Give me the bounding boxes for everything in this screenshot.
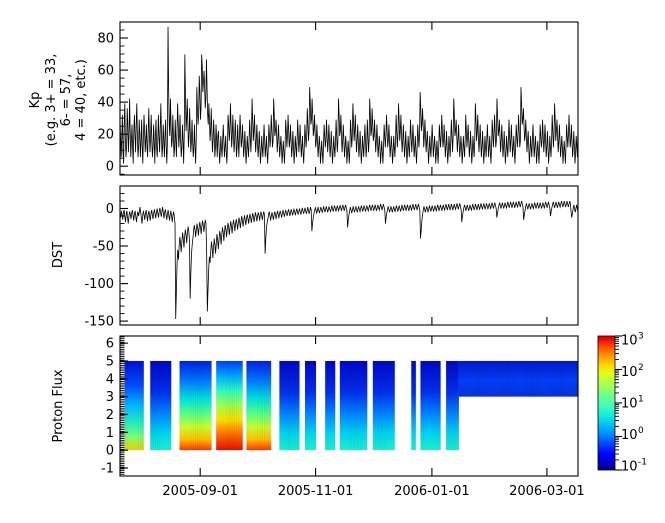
dst-ytick-m150: -150 [84,315,114,330]
spectrogram-striation [505,361,506,397]
spectrogram-striation [451,361,452,450]
spectrogram-striation [238,361,239,450]
spectrogram-striation [312,361,313,450]
colorbar-exp-1e3: 3 [638,332,644,342]
spectrogram-striation [225,361,226,450]
colorbar-exp-1e2: 2 [638,363,644,373]
proton-flux-ytick-0: 0 [106,444,114,459]
spectrogram-striation [351,361,352,450]
spectrogram-striation [188,361,189,450]
kp-ytick-80: 80 [97,32,114,47]
spectrogram-striation [479,361,480,397]
spectrogram-striation [362,361,363,450]
spectrogram-striation [532,361,533,397]
spectrogram-striation [186,361,187,450]
spectrogram-striation [554,361,555,397]
spectrogram-striation [195,361,196,450]
spectrogram-striation [499,361,500,397]
spectrogram-striation [346,361,347,450]
spectrogram-striation [284,361,285,450]
spectrogram-striation [355,361,356,450]
spectrogram-striation [446,361,447,450]
spectrogram-striation [271,361,272,450]
spectrogram-striation [332,361,333,450]
proton-flux-colorbar: 10 3 10 2 10 1 10 0 10 -1 [598,332,647,475]
spectrogram-striation [344,361,345,450]
spectrogram-striation [129,361,130,450]
spectrogram-striation [485,361,486,397]
spectrogram-striation [547,361,548,397]
colorbar-gradient [598,336,615,470]
spectrogram-striation [468,361,469,397]
dst-panel: 0 -50 -100 -150 DST [51,186,578,330]
spectrogram-striation [140,361,141,450]
spectrogram-striation [488,361,489,397]
spectrogram-striation [234,361,235,450]
spectrogram-striation [474,361,475,397]
proton-flux-panel: -10123456 Proton Flux 2005-09-01 2005-11… [51,336,585,499]
colorbar-exp-1e0: 0 [638,426,644,436]
spectrogram-striation [431,361,432,450]
spectrogram-striation [236,361,237,450]
spectrogram-striation [388,361,389,450]
spectrogram-striation [268,361,269,450]
spectrogram-striation [136,361,137,450]
spectrogram-striation [490,361,491,397]
spectrogram-striation [249,361,250,450]
kp-axis-title-line1: Kp [28,92,43,109]
spectrogram-striation [525,361,526,397]
colorbar-tick-labels: 10 3 10 2 10 1 10 0 10 -1 [621,332,647,475]
spectrogram-striation [440,361,441,450]
kp-ytick-40: 40 [97,96,114,111]
proton-flux-ytick-6: 6 [106,337,114,352]
spectrogram-striation [202,361,203,450]
spectrogram-striation [501,361,502,397]
spectrogram-striation [305,361,306,450]
colorbar-exp-1em1: -1 [638,458,647,468]
colorbar-label-1em1: 10 [621,460,638,475]
spectrogram-striation [232,361,233,450]
spectrogram-striation [197,361,198,450]
spectrogram-segment [246,361,271,450]
xtick-label-4: 2006-03-01 [509,484,585,499]
spectrogram-striation [386,361,387,450]
dst-ytick-m50: -50 [93,240,114,255]
spectrogram-striation [569,361,570,397]
kp-axis-title-line2: (e.g. 3+ = 33, [44,54,59,147]
spectrogram-striation [251,361,252,450]
spectrogram-striation [540,361,541,397]
kp-panel: 0 20 40 60 80 Kp (e.g. 3+ = 33, 6- = 57,… [28,22,578,175]
spectrogram-striation [150,361,151,450]
spectrogram-striation [455,361,456,450]
spectrogram-striation [492,361,493,397]
dst-axis-title: DST [51,242,66,268]
spectrogram-striation [262,361,263,450]
spectrogram-striation [218,361,219,450]
x-axis-tick-labels: 2005-09-01 2005-11-01 2006-01-01 2006-03… [162,484,584,499]
dst-ytick-0: 0 [106,202,114,217]
spectrogram-striation [427,361,428,450]
spectrogram-striation [507,361,508,397]
spectrogram-striation [375,361,376,450]
spectrogram-striation [565,361,566,397]
spectrogram-striation [503,361,504,397]
spectrogram-striation [286,361,287,450]
colorbar-label-1e2: 10 [621,365,638,380]
spectrogram-striation [340,361,341,450]
spectrogram-striation [349,361,350,450]
spectrogram-striation [538,361,539,397]
spectrogram-striation [461,361,462,397]
spectrogram-striation [353,361,354,450]
spectrogram-striation [481,361,482,397]
spectrogram-striation [325,361,326,450]
spectrogram-striation [393,361,394,450]
spectrogram-striation [416,361,417,450]
spectrogram-striation [420,361,421,450]
kp-axis-title-line3: 6- = 57, [59,74,74,127]
spectrogram-segment [446,361,459,450]
spectrogram-striation [142,361,143,450]
spectrogram-striation [496,361,497,397]
spectrogram-striation [459,361,460,397]
spectrogram-striation [523,361,524,397]
spectrogram-striation [512,361,513,397]
spectrogram-striation [545,361,546,397]
spectrogram-striation [466,361,467,397]
spectrogram-striation [180,361,181,450]
spectrogram-striation [295,361,296,450]
spectrogram-striation [379,361,380,450]
spectrogram-striation [288,361,289,450]
dst-series-line [120,201,578,319]
dst-y-axis: 0 -50 -100 -150 [84,194,128,330]
spectrogram-striation [163,361,164,450]
spectrogram-striation [314,361,315,450]
spectrogram-striation [510,361,511,397]
dst-ytick-m100: -100 [84,277,114,292]
proton-flux-ytick-1: 1 [106,426,114,441]
spectrogram-striation [567,361,568,397]
spectrogram-striation [299,361,300,450]
kp-ytick-60: 60 [97,64,114,79]
spectrogram-striation [255,361,256,450]
proton-flux-ytick--1: -1 [101,461,114,476]
spectrogram-striation [472,361,473,397]
spectrogram-striation [227,361,228,450]
kp-ytick-20: 20 [97,128,114,143]
spectrogram-striation [293,361,294,450]
spectrogram-striation [170,361,171,450]
spectrogram-striation [411,361,412,450]
spectrogram-striation [184,361,185,450]
spectrogram-striation [364,361,365,450]
spectrogram-striation [571,361,572,397]
spectrogram-striation [243,361,244,450]
spectrogram-striation [366,361,367,450]
spectrogram-striation [260,361,261,450]
spectrogram-striation [191,361,192,450]
spectrogram-striation [334,361,335,450]
spectrogram-striation [373,361,374,450]
kp-ytick-0: 0 [106,160,114,175]
colorbar-label-1e1: 10 [621,397,638,412]
spectrogram-striation [257,361,258,450]
spectrogram-striation [360,361,361,450]
spectrogram-striation [562,361,563,397]
spectrogram-striation [556,361,557,397]
spectrogram-striation [514,361,515,397]
spectrogram-striation [282,361,283,450]
spectrogram-striation [210,361,211,450]
spectrogram-striation [229,361,230,450]
spectrogram-striation [382,361,383,450]
proton-flux-ytick-5: 5 [106,354,114,369]
spectrogram-striation [125,361,126,450]
proton-flux-ytick-3: 3 [106,390,114,405]
spectrogram-striation [494,361,495,397]
kp-series-line [120,27,578,164]
spectrogram-striation [309,361,310,450]
proton-flux-ytick-2: 2 [106,408,114,423]
figure-root: 0 20 40 60 80 Kp (e.g. 3+ = 33, 6- = 57,… [0,0,665,523]
xtick-label-1: 2005-09-01 [162,484,238,499]
spectrogram-striation [390,361,391,450]
spectrogram-striation [558,361,559,397]
xtick-label-3: 2006-01-01 [394,484,470,499]
spectrogram-striation [290,361,291,450]
spectrogram-striation [297,361,298,450]
spectrogram-striation [470,361,471,397]
spectrogram-striation [423,361,424,450]
spectrogram-striation [434,361,435,450]
spectrogram-striation [216,361,217,450]
spectrogram-striation [279,361,280,450]
proton-flux-ytick-4: 4 [106,372,114,387]
spectrogram-striation [438,361,439,450]
dst-x-ticks [200,186,547,325]
spectrogram-striation [168,361,169,450]
spectrogram-striation [536,361,537,397]
spectrogram-striation [448,361,449,450]
spectrogram-striation [425,361,426,450]
spectrogram-striation [543,361,544,397]
spectrogram-striation [138,361,139,450]
spectrogram-striation [357,361,358,450]
spectrogram-striation [221,361,222,450]
plot-svg: 0 20 40 60 80 Kp (e.g. 3+ = 33, 6- = 57,… [0,0,665,523]
spectrogram-striation [223,361,224,450]
spectrogram-striation [240,361,241,450]
spectrogram-striation [253,361,254,450]
spectrogram-striation [133,361,134,450]
spectrogram-striation [307,361,308,450]
spectrogram-striation [453,361,454,450]
spectrogram-striation [199,361,200,450]
spectrogram-striation [155,361,156,450]
spectrogram-striation [206,361,207,450]
spectrogram-striation [157,361,158,450]
spectrogram-striation [457,361,458,450]
spectrogram-striation [127,361,128,450]
proton-flux-axis-title: Proton Flux [51,369,66,442]
spectrogram-striation [166,361,167,450]
kp-axis-title-line4: 4 = 40, etc.) [74,59,89,141]
spectrogram-striation [131,361,132,450]
spectrogram-striation [342,361,343,450]
spectrogram-striation [436,361,437,450]
spectrogram-striation [549,361,550,397]
spectrogram-striation [161,361,162,450]
spectrogram-striation [477,361,478,397]
xtick-label-2: 2005-11-01 [278,484,354,499]
spectrogram-striation [516,361,517,397]
kp-axis-title: Kp (e.g. 3+ = 33, 6- = 57, 4 = 40, etc.) [28,54,89,147]
spectrogram-striation [266,361,267,450]
spectrogram-striation [518,361,519,397]
spectrogram-striation [246,361,247,450]
spectrogram-striation [152,361,153,450]
spectrogram-striation [330,361,331,450]
spectrogram-striation [560,361,561,397]
colorbar-exp-1e1: 1 [638,395,644,405]
spectrogram-striation [413,361,414,450]
spectrogram-striation [551,361,552,397]
spectrogram-striation [264,361,265,450]
spectrogram-striation [529,361,530,397]
spectrogram-striation [573,361,574,397]
spectrogram-striation [429,361,430,450]
spectrogram-striation [327,361,328,450]
colorbar-label-1e3: 10 [621,334,638,349]
spectrogram-striation [483,361,484,397]
spectrogram-striation [193,361,194,450]
spectrogram-striation [204,361,205,450]
spectrogram-striation [576,361,577,397]
spectrogram-striation [208,361,209,450]
colorbar-label-1e0: 10 [621,428,638,443]
spectrogram-striation [534,361,535,397]
spectrogram-striation [159,361,160,450]
spectrogram-striation [521,361,522,397]
spectrogram-striation [527,361,528,397]
spectrogram-striation [384,361,385,450]
spectrogram-striation [182,361,183,450]
spectrogram-striation [377,361,378,450]
spectrogram-striation [463,361,464,397]
